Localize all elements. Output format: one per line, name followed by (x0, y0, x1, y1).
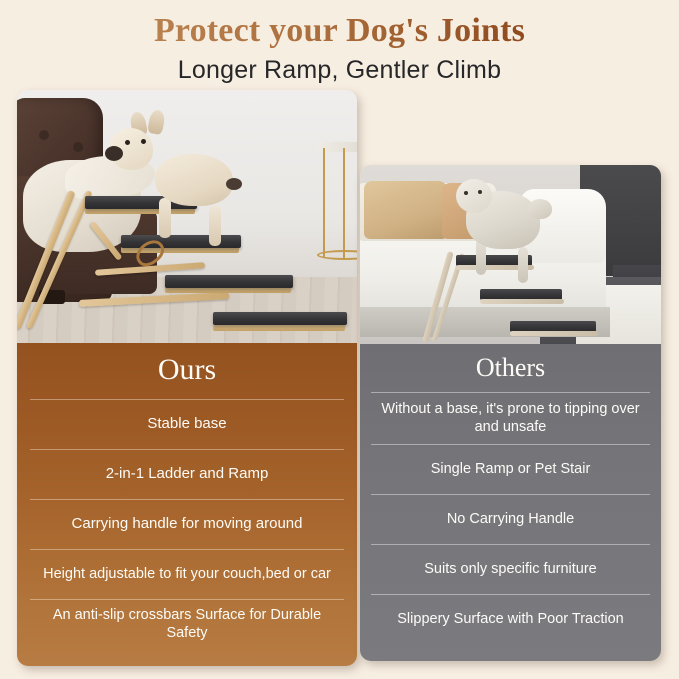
feature-row: Suits only specific furniture (371, 544, 650, 594)
sofa-tuft-icon (39, 130, 49, 140)
feature-row: Without a base, it's prone to tipping ov… (371, 392, 650, 444)
dog-eye (478, 190, 482, 194)
step-wood-edge (213, 324, 345, 331)
feature-row: 2-in-1 Ladder and Ramp (30, 449, 344, 499)
feature-row: Slippery Surface with Poor Traction (371, 594, 650, 644)
step-tread (165, 275, 293, 288)
ours-feature-table: Ours Stable base 2-in-1 Ladder and Ramp … (17, 343, 357, 666)
ours-product-photo (17, 90, 357, 343)
feature-row: An anti-slip crossbars Surface for Durab… (30, 599, 344, 649)
dog-head (456, 179, 492, 213)
feature-row: Stable base (30, 399, 344, 449)
header: Protect your Dog's Joints Longer Ramp, G… (0, 0, 679, 90)
feature-row: No Carrying Handle (371, 494, 650, 544)
dog-tail (528, 199, 552, 219)
feature-row: Carrying handle for moving around (30, 499, 344, 549)
dog-body (155, 154, 233, 206)
dog-leg (209, 206, 221, 246)
side-table-leg (323, 148, 325, 258)
feature-row: Height adjustable to fit your couch,bed … (30, 549, 344, 599)
others-comparison-card: Others Without a base, it's prone to tip… (360, 165, 661, 661)
sofa-tuft-icon (73, 142, 83, 152)
side-table-leg (343, 148, 345, 258)
dog-snout (105, 146, 123, 161)
page-title: Protect your Dog's Joints (0, 12, 679, 50)
step-wood-edge (480, 299, 564, 304)
dog-tail (226, 178, 242, 190)
page-subtitle: Longer Ramp, Gentler Climb (0, 56, 679, 85)
ours-feature-rows: Stable base 2-in-1 Ladder and Ramp Carry… (17, 399, 357, 649)
ours-heading: Ours (17, 343, 357, 399)
step-tread (121, 235, 241, 248)
step-tread (213, 312, 347, 325)
dog-eye (141, 139, 146, 144)
dog-leg (518, 247, 528, 283)
dog-leg (159, 198, 171, 238)
tan-cushion (364, 181, 448, 239)
others-feature-table: Others Without a base, it's prone to tip… (360, 344, 661, 661)
dog-eye (464, 191, 468, 195)
step-wood-edge (510, 331, 598, 336)
dog-eye (125, 140, 130, 145)
others-heading: Others (360, 344, 661, 392)
ours-comparison-card: Ours Stable base 2-in-1 Ladder and Ramp … (17, 90, 357, 666)
feature-row: Single Ramp or Pet Stair (371, 444, 650, 494)
others-product-photo (360, 165, 661, 344)
others-feature-rows: Without a base, it's prone to tipping ov… (360, 392, 661, 644)
